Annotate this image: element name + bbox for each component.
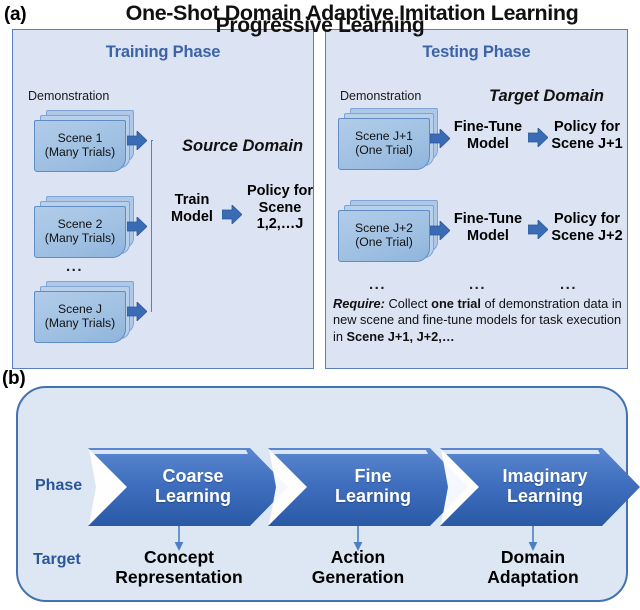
training-collector-top — [151, 140, 153, 141]
scene-trials: (Many Trials) — [45, 232, 115, 246]
target-domain-label: Target Domain — [489, 87, 604, 106]
flow-arrow-icon — [430, 221, 450, 240]
flow-arrow-icon — [127, 302, 147, 321]
require-bold-1: one trial — [431, 296, 481, 311]
target-label-concept-representation: Concept Representation — [79, 547, 279, 587]
training-ellipsis: ... — [66, 258, 83, 275]
scene-name: Scene 2 — [58, 218, 103, 232]
scene-card-front: Scene J+2 (One Trial) — [338, 210, 430, 262]
train-model-label: Train Model — [166, 192, 218, 225]
flow-arrow-icon — [127, 217, 147, 236]
testing-policy-output: Policy for Scene J+1 — [549, 119, 625, 152]
flow-arrow-icon — [430, 129, 450, 148]
flow-arrow-icon — [528, 128, 548, 147]
require-note: Require: Collect one trial of demonstrat… — [333, 296, 623, 345]
target-label-domain-adaptation: Domain Adaptation — [433, 547, 633, 587]
scene-trials: (Many Trials) — [45, 317, 115, 331]
phase-chevron-label: Fine Learning — [296, 467, 450, 507]
target-label-action-generation: Action Generation — [258, 547, 458, 587]
fine-tune-label: Fine-Tune Model — [452, 211, 524, 244]
phase-chevron-label: Imaginary Learning — [468, 467, 622, 507]
scene-card-stack: Scene J (Many Trials) — [34, 281, 138, 343]
phase-chevron-coarse-learning[interactable]: Coarse Learning — [88, 448, 288, 526]
training-demonstration-label: Demonstration — [28, 89, 109, 103]
source-domain-label: Source Domain — [182, 137, 303, 156]
progressive-learning-title: Progressive Learning — [0, 14, 640, 38]
flow-arrow-icon — [222, 205, 242, 224]
training-policy-output: Policy for Scene 1,2,…J — [246, 183, 314, 233]
scene-name: Scene J — [58, 303, 102, 317]
flow-arrow-icon — [528, 220, 548, 239]
require-keyword: Require: — [333, 296, 385, 311]
target-row-label: Target — [33, 551, 81, 569]
phase-chevron-fine-learning[interactable]: Fine Learning — [268, 448, 468, 526]
fine-tune-label: Fine-Tune Model — [452, 119, 524, 152]
scene-name: Scene J+1 — [355, 130, 413, 144]
require-bold-2: Scene J+1, J+2,… — [347, 329, 455, 344]
testing-demonstration-label: Demonstration — [340, 89, 421, 103]
scene-card-front: Scene 1 (Many Trials) — [34, 120, 126, 172]
require-text-1: Collect — [385, 296, 431, 311]
training-phase-heading: Training Phase — [13, 43, 313, 62]
testing-ellipsis: ... — [369, 276, 386, 293]
scene-name: Scene 1 — [58, 132, 103, 146]
scene-trials: (Many Trials) — [45, 146, 115, 160]
scene-trials: (One Trial) — [355, 236, 413, 250]
testing-ellipsis: ... — [469, 276, 486, 293]
training-collector-line — [151, 141, 152, 312]
phase-chevron-label: Coarse Learning — [116, 467, 270, 507]
scene-card-front: Scene 2 (Many Trials) — [34, 206, 126, 258]
scene-trials: (One Trial) — [355, 144, 413, 158]
testing-ellipsis: ... — [560, 276, 577, 293]
scene-card-front: Scene J (Many Trials) — [34, 291, 126, 343]
panel-b-label: (b) — [2, 368, 25, 390]
scene-card-front: Scene J+1 (One Trial) — [338, 118, 430, 170]
scene-name: Scene J+2 — [355, 222, 413, 236]
testing-phase-heading: Testing Phase — [326, 43, 627, 62]
scene-card-stack: Scene 2 (Many Trials) — [34, 196, 138, 258]
flow-arrow-icon — [127, 131, 147, 150]
testing-policy-output: Policy for Scene J+2 — [549, 211, 625, 244]
scene-card-stack: Scene 1 (Many Trials) — [34, 110, 138, 172]
phase-chevron-imaginary-learning[interactable]: Imaginary Learning — [440, 448, 640, 526]
scene-card-stack: Scene J+1 (One Trial) — [338, 108, 442, 170]
scene-card-stack: Scene J+2 (One Trial) — [338, 200, 442, 262]
phase-row-label: Phase — [35, 477, 82, 495]
